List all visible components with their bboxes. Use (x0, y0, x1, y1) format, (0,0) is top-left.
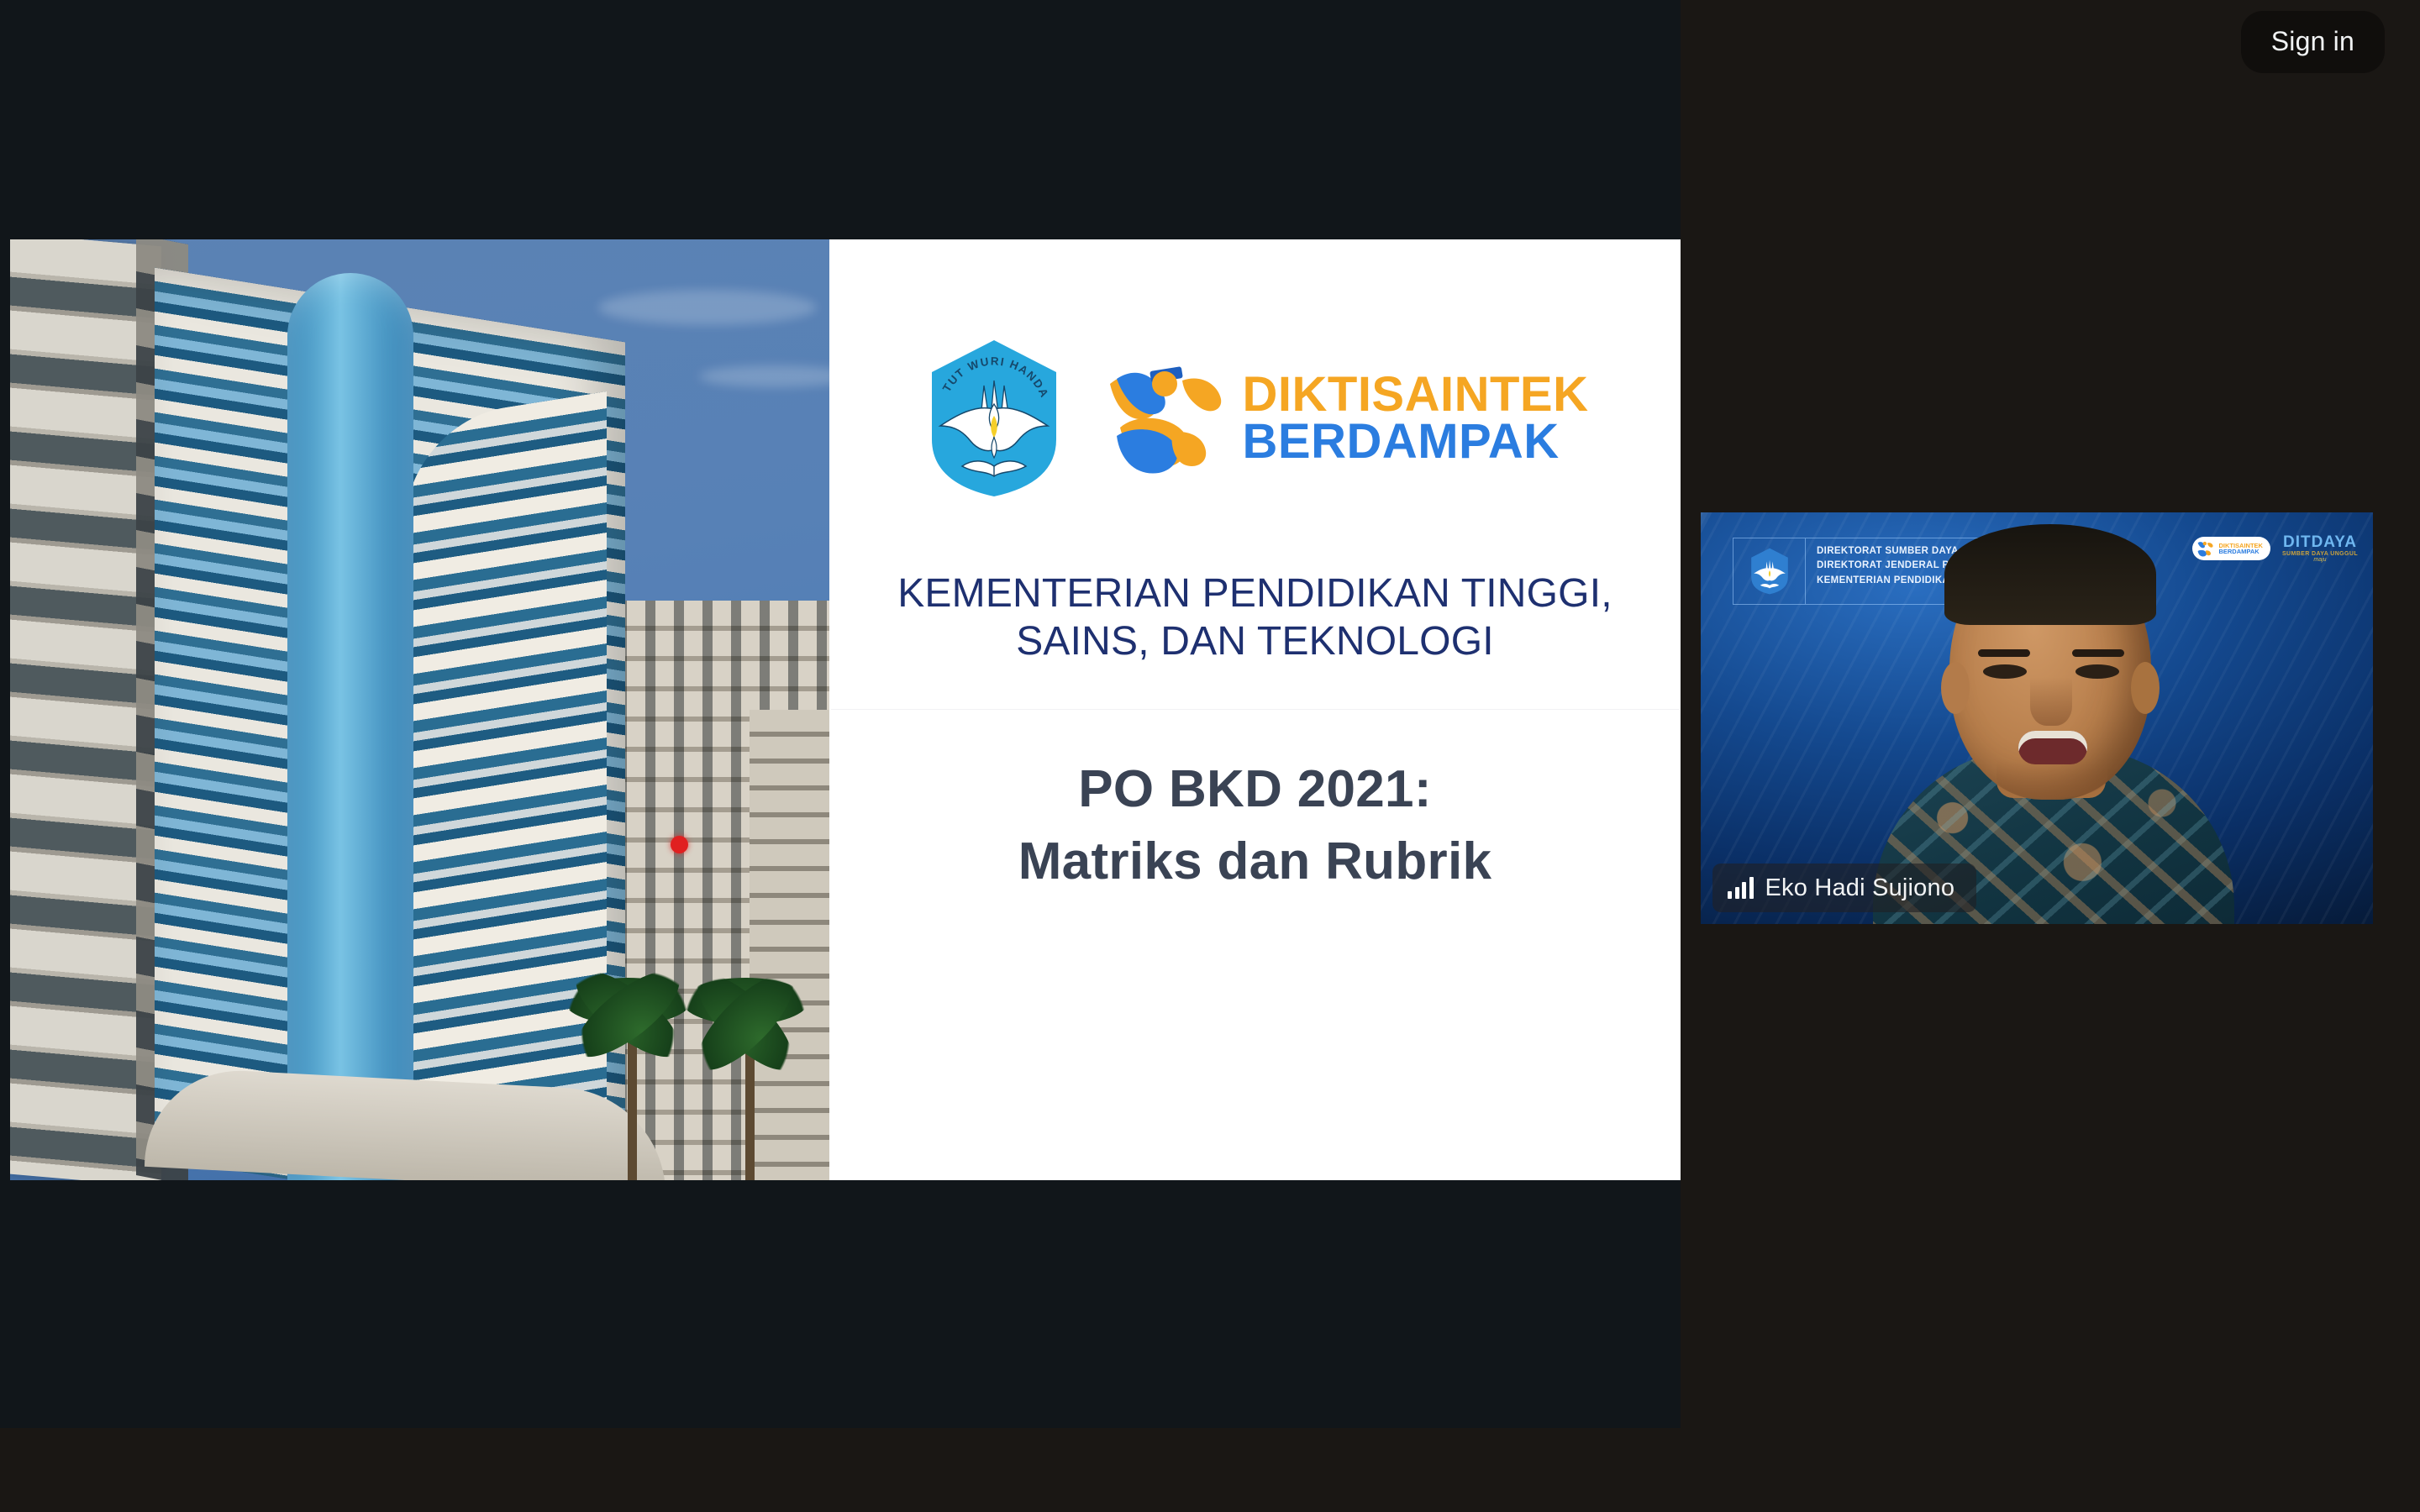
participant-name: Eko Hadi Sujiono (1765, 874, 1955, 902)
slide-logo-row: TUT WURI HANDAYANI (922, 339, 1589, 498)
person-ear-right (2131, 662, 2160, 714)
photo-palm-tree (649, 928, 829, 1180)
participant-name-pill: Eko Hadi Sujiono (1712, 864, 1976, 912)
person-chin (1996, 759, 2107, 798)
slide-divider (831, 709, 1680, 710)
diktisaintek-wordmark-line2: BERDAMPAK (1243, 418, 1589, 465)
ministry-line-2: SAINS, DAN TEKNOLOGI (897, 618, 1612, 666)
presentation-slide: TUT WURI HANDAYANI (10, 239, 1681, 1180)
person-hair (1944, 524, 2156, 625)
diktisaintek-wordmark-line1: DIKTISAINTEK (1243, 371, 1589, 418)
participant-webcam-image (1701, 512, 2373, 924)
person-eye-left (1983, 664, 2027, 679)
tut-wuri-handayani-emblem: TUT WURI HANDAYANI (922, 339, 1066, 498)
sign-in-button[interactable]: Sign in (2241, 11, 2385, 73)
slide-title: PO BKD 2021: Matriks dan Rubrik (1018, 753, 1492, 897)
diktisaintek-berdampak-logo: DIKTISAINTEK BERDAMPAK (1102, 355, 1589, 481)
person-eyebrow-right (2072, 649, 2124, 657)
photo-red-marker (671, 836, 688, 853)
participant-video-tile[interactable]: DIREKTORAT SUMBER DAYA DIREKTORAT JENDER… (1701, 512, 2373, 924)
person-eyebrow-left (1978, 649, 2030, 657)
person-eye-right (2075, 664, 2119, 679)
top-bar: Sign in (1681, 0, 2420, 84)
slide-ministry-heading: KEMENTERIAN PENDIDIKAN TINGGI, SAINS, DA… (897, 570, 1612, 665)
slide-title-line-2: Matriks dan Rubrik (1018, 826, 1492, 898)
ministry-line-1: KEMENTERIAN PENDIDIKAN TINGGI, (897, 570, 1612, 618)
shared-screen-stage[interactable]: TUT WURI HANDAYANI (0, 0, 1681, 1428)
person-ear-left (1941, 662, 1970, 714)
photo-tower-glass-spine (287, 273, 413, 1180)
person-nose (2030, 677, 2072, 726)
slide-title-line-1: PO BKD 2021: (1018, 753, 1492, 826)
signal-bars-icon (1728, 877, 1754, 899)
diktisaintek-mark-icon (1102, 355, 1229, 481)
slide-building-photo (10, 239, 829, 1180)
slide-content-panel: TUT WURI HANDAYANI (829, 239, 1681, 1180)
